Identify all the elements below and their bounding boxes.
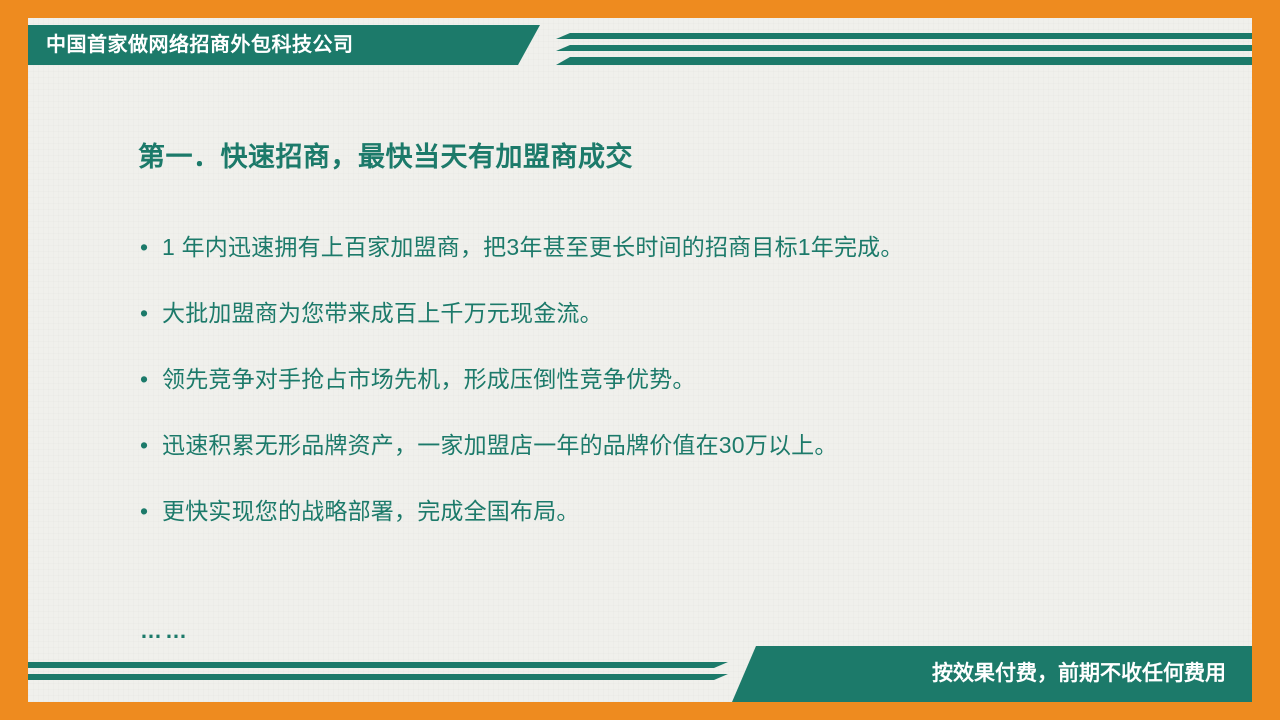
slide-footer: 按效果付费，前期不收任何费用	[28, 646, 1252, 702]
bullet-text: 领先竞争对手抢占市场先机，形成压倒性竞争优势。	[162, 364, 696, 394]
list-item: • 迅速积累无形品牌资产，一家加盟店一年的品牌价值在30万以上。	[140, 430, 1220, 460]
header-stripe-2	[556, 45, 1252, 51]
footer-stripe-2	[28, 674, 728, 680]
footer-stripe-1	[28, 662, 728, 668]
header-title: 中国首家做网络招商外包科技公司	[46, 25, 354, 65]
slide-header: 中国首家做网络招商外包科技公司	[28, 25, 1252, 65]
section-title: 第一．快速招商，最快当天有加盟商成交	[138, 135, 633, 174]
bullet-text: 更快实现您的战略部署，完成全国布局。	[162, 496, 580, 526]
bullet-marker-icon: •	[140, 430, 162, 460]
ellipsis-text: ……	[140, 618, 190, 644]
bullet-marker-icon: •	[140, 232, 162, 262]
bullet-text: 迅速积累无形品牌资产，一家加盟店一年的品牌价值在30万以上。	[162, 430, 838, 460]
header-stripe-1	[556, 33, 1252, 39]
bullet-list: • 1 年内迅速拥有上百家加盟商，把3年甚至更长时间的招商目标1年完成。 • 大…	[140, 232, 1220, 562]
list-item: • 更快实现您的战略部署，完成全国布局。	[140, 496, 1220, 526]
bullet-marker-icon: •	[140, 364, 162, 394]
bullet-marker-icon: •	[140, 496, 162, 526]
list-item: • 领先竞争对手抢占市场先机，形成压倒性竞争优势。	[140, 364, 1220, 394]
bullet-marker-icon: •	[140, 298, 162, 328]
list-item: • 1 年内迅速拥有上百家加盟商，把3年甚至更长时间的招商目标1年完成。	[140, 232, 1220, 262]
bullet-text: 1 年内迅速拥有上百家加盟商，把3年甚至更长时间的招商目标1年完成。	[162, 232, 904, 262]
list-item: • 大批加盟商为您带来成百上千万元现金流。	[140, 298, 1220, 328]
slide-root: 中国首家做网络招商外包科技公司 第一．快速招商，最快当天有加盟商成交 • 1 年…	[0, 0, 1280, 720]
header-stripe-3	[556, 57, 1252, 65]
footer-text: 按效果付费，前期不收任何费用	[932, 646, 1226, 702]
bullet-text: 大批加盟商为您带来成百上千万元现金流。	[162, 298, 603, 328]
